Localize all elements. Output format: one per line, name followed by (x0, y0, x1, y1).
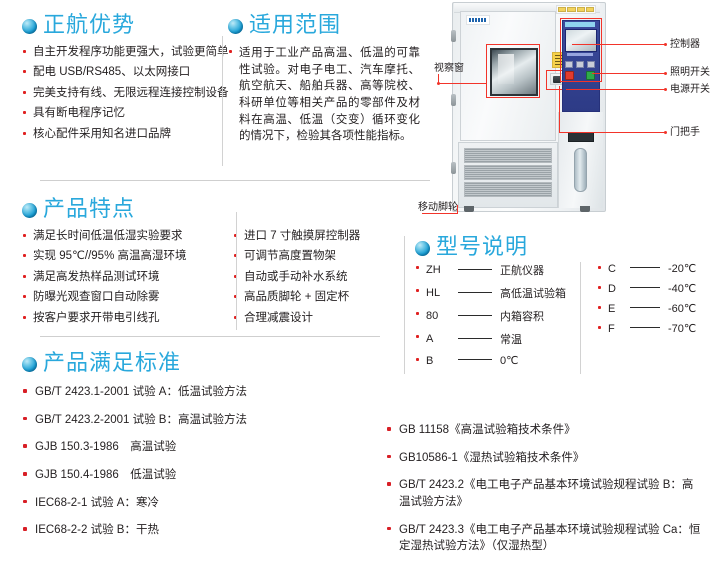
leader-line-light-switch (592, 73, 666, 74)
scope-heading: 适用范围 (228, 14, 420, 36)
model-value: -20℃ (668, 262, 696, 275)
leader-line-door-handle-vertical (559, 86, 560, 133)
model-value: 内箱容积 (500, 308, 544, 324)
advantage-list: 自主开发程序功能更强大，试验更简单 配电 USB/RS485、以太网接口 完美支… (22, 45, 232, 141)
list-item: 具有断电程序记忆 (22, 106, 232, 120)
vent-grill (464, 165, 552, 180)
dash-icon (630, 327, 660, 328)
model-row: E -60℃ (597, 302, 696, 315)
features-list-right: 进口 7 寸触摸屏控制器 可调节高度置物架 自动或手动补水系统 高品质脚轮 + … (211, 229, 422, 331)
list-item: 自动或手动补水系统 (233, 270, 422, 284)
model-title: 型号说明 (436, 236, 528, 258)
standards-list-right: GB 11158《高温试验箱技术条件》 GB10586-1《湿热试验箱技术条件》… (386, 422, 702, 566)
callout-light-switch: 照明开关 (670, 68, 710, 78)
features-title: 产品特点 (43, 198, 135, 220)
section-features: 产品特点 满足长时间低温低湿实验要求 实现 95℃//95% 高温高湿环境 满足… (22, 198, 422, 331)
list-item: 合理减震设计 (233, 311, 422, 325)
product-photo (452, 2, 604, 210)
model-code: 80 (426, 310, 450, 322)
sphere-bullet-icon (415, 241, 430, 256)
list-item: IEC68-2-2 试验 B：干热 (22, 522, 338, 539)
callout-view-window: 视察窗 (434, 64, 464, 74)
callout-controller: 控制器 (670, 40, 700, 50)
model-heading: 型号说明 (415, 236, 704, 258)
list-item: 核心配件采用知名进口品牌 (22, 127, 232, 141)
model-code: E (608, 303, 622, 315)
list-item: 满足高发热样品测试环境 (22, 270, 211, 284)
sphere-bullet-icon (22, 203, 37, 218)
list-item: 高品质脚轮 + 固定杯 (233, 290, 422, 304)
divider-features-columns (236, 212, 237, 330)
leader-line-door-handle (559, 132, 666, 133)
leader-dot (664, 88, 667, 91)
section-scope: 适用范围 适用于工业产品高温、低温的可靠性试验。对电子电工、汽车摩托、航空航天、… (228, 14, 420, 145)
scope-title: 适用范围 (249, 14, 341, 36)
side-grip (574, 148, 587, 192)
model-value: 正航仪器 (500, 262, 544, 278)
leader-line-caster-vertical (457, 205, 458, 214)
leader-dot (664, 43, 667, 46)
product-spec-sheet: 正航优势 自主开发程序功能更强大，试验更简单 配电 USB/RS485、以太网接… (0, 0, 710, 545)
model-code: ZH (426, 264, 450, 276)
dash-icon (458, 292, 492, 293)
list-item: GJB 150.4-1986 低温试验 (22, 467, 338, 484)
model-row: D -40℃ (597, 282, 696, 295)
leader-dot (437, 82, 440, 85)
divider-above-standards (40, 336, 380, 337)
list-item: 进口 7 寸触摸屏控制器 (233, 229, 422, 243)
hinge-icon (451, 162, 456, 174)
model-row: A 常温 (415, 331, 566, 347)
dash-icon (458, 338, 492, 339)
model-code: HL (426, 287, 450, 299)
observation-window-highlight-box (486, 44, 540, 98)
model-value: -60℃ (668, 302, 696, 315)
list-item: 防曝光观查窗口自动除雾 (22, 290, 211, 304)
model-row: HL 高低温试验箱 (415, 285, 566, 301)
list-item: 满足长时间低温低湿实验要求 (22, 229, 211, 243)
scope-paragraph: 适用于工业产品高温、低温的可靠性试验。对电子电工、汽车摩托、航空航天、船舶兵器、… (228, 45, 420, 145)
side-slot (568, 132, 594, 142)
model-value: -40℃ (668, 282, 696, 295)
leader-dot (664, 131, 667, 134)
caster-icon (464, 206, 474, 212)
leader-line-caster (422, 213, 458, 214)
hinge-icon (451, 30, 456, 42)
callout-door-handle: 门把手 (670, 128, 700, 138)
list-item: 完美支持有线、无限远程连接控制设备 (22, 86, 232, 100)
leader-dot (664, 72, 667, 75)
features-heading: 产品特点 (22, 198, 422, 220)
dash-icon (458, 269, 492, 270)
model-value: 高低温试验箱 (500, 285, 566, 301)
list-item: GB/T 2423.2《电工电子产品基本环境试验规程试验 B：高温试验方法》 (386, 477, 702, 510)
list-item: 自主开发程序功能更强大，试验更简单 (22, 45, 232, 59)
standards-title: 产品满足标准 (43, 352, 181, 374)
list-item: GB/T 2423.3《电工电子产品基本环境试验规程试验 Ca：恒定湿热试验方法… (386, 522, 702, 555)
leader-line-power-switch (566, 89, 666, 90)
dash-icon (630, 287, 660, 288)
model-row: F -70℃ (597, 322, 696, 335)
advantage-title: 正航优势 (43, 14, 135, 36)
hinge-icon (451, 94, 456, 106)
vent-grill (464, 148, 552, 163)
divider-above-features (40, 180, 430, 181)
brand-logo (466, 15, 490, 25)
model-code: A (426, 333, 450, 345)
model-code: C (608, 263, 622, 275)
model-code: D (608, 283, 622, 295)
list-item: IEC68-2-1 试验 A：寒冷 (22, 495, 338, 512)
sphere-bullet-icon (22, 19, 37, 34)
model-code: F (608, 323, 622, 335)
dash-icon (630, 307, 660, 308)
dash-icon (458, 315, 492, 316)
dash-icon (630, 267, 660, 268)
sphere-bullet-icon (228, 19, 243, 34)
callout-power-switch: 电源开关 (670, 85, 710, 95)
caster-icon (580, 206, 590, 212)
list-item: 实现 95℃//95% 高温高湿环境 (22, 249, 211, 263)
standards-list-left: GB/T 2423.1-2001 试验 A：低温试验方法 GB/T 2423.2… (22, 384, 338, 566)
sphere-bullet-icon (22, 357, 37, 372)
top-indicator-lights (556, 5, 596, 14)
advantage-heading: 正航优势 (22, 14, 232, 36)
model-row: ZH 正航仪器 (415, 262, 566, 278)
leader-line-controller (572, 44, 666, 45)
list-item: 可调节高度置物架 (233, 249, 422, 263)
leader-line-view-window (438, 83, 486, 84)
list-item: 按客户要求开带电引线孔 (22, 311, 211, 325)
section-advantage: 正航优势 自主开发程序功能更强大，试验更简单 配电 USB/RS485、以太网接… (22, 14, 232, 147)
list-item: GJB 150.3-1986 高温试验 (22, 439, 338, 456)
features-list-left: 满足长时间低温低湿实验要求 实现 95℃//95% 高温高湿环境 满足高发热样品… (22, 229, 211, 331)
callout-caster: 移动脚轮 (418, 203, 458, 213)
list-item: GB 11158《高温试验箱技术条件》 (386, 422, 702, 439)
divider-vertical-top (222, 36, 223, 166)
model-row: 80 内箱容积 (415, 308, 566, 324)
list-item: 配电 USB/RS485、以太网接口 (22, 65, 232, 79)
vent-grill (464, 182, 552, 197)
standards-heading: 产品满足标准 (22, 352, 702, 374)
list-item: GB10586-1《湿热试验箱技术条件》 (386, 450, 702, 467)
model-value: 常温 (500, 331, 522, 347)
model-value: -70℃ (668, 322, 696, 335)
model-row: C -20℃ (597, 262, 696, 275)
section-standards: 产品满足标准 GB/T 2423.1-2001 试验 A：低温试验方法 GB/T… (22, 352, 702, 566)
list-item: GB/T 2423.1-2001 试验 A：低温试验方法 (22, 384, 338, 401)
list-item: GB/T 2423.2-2001 试验 B：高温试验方法 (22, 412, 338, 429)
